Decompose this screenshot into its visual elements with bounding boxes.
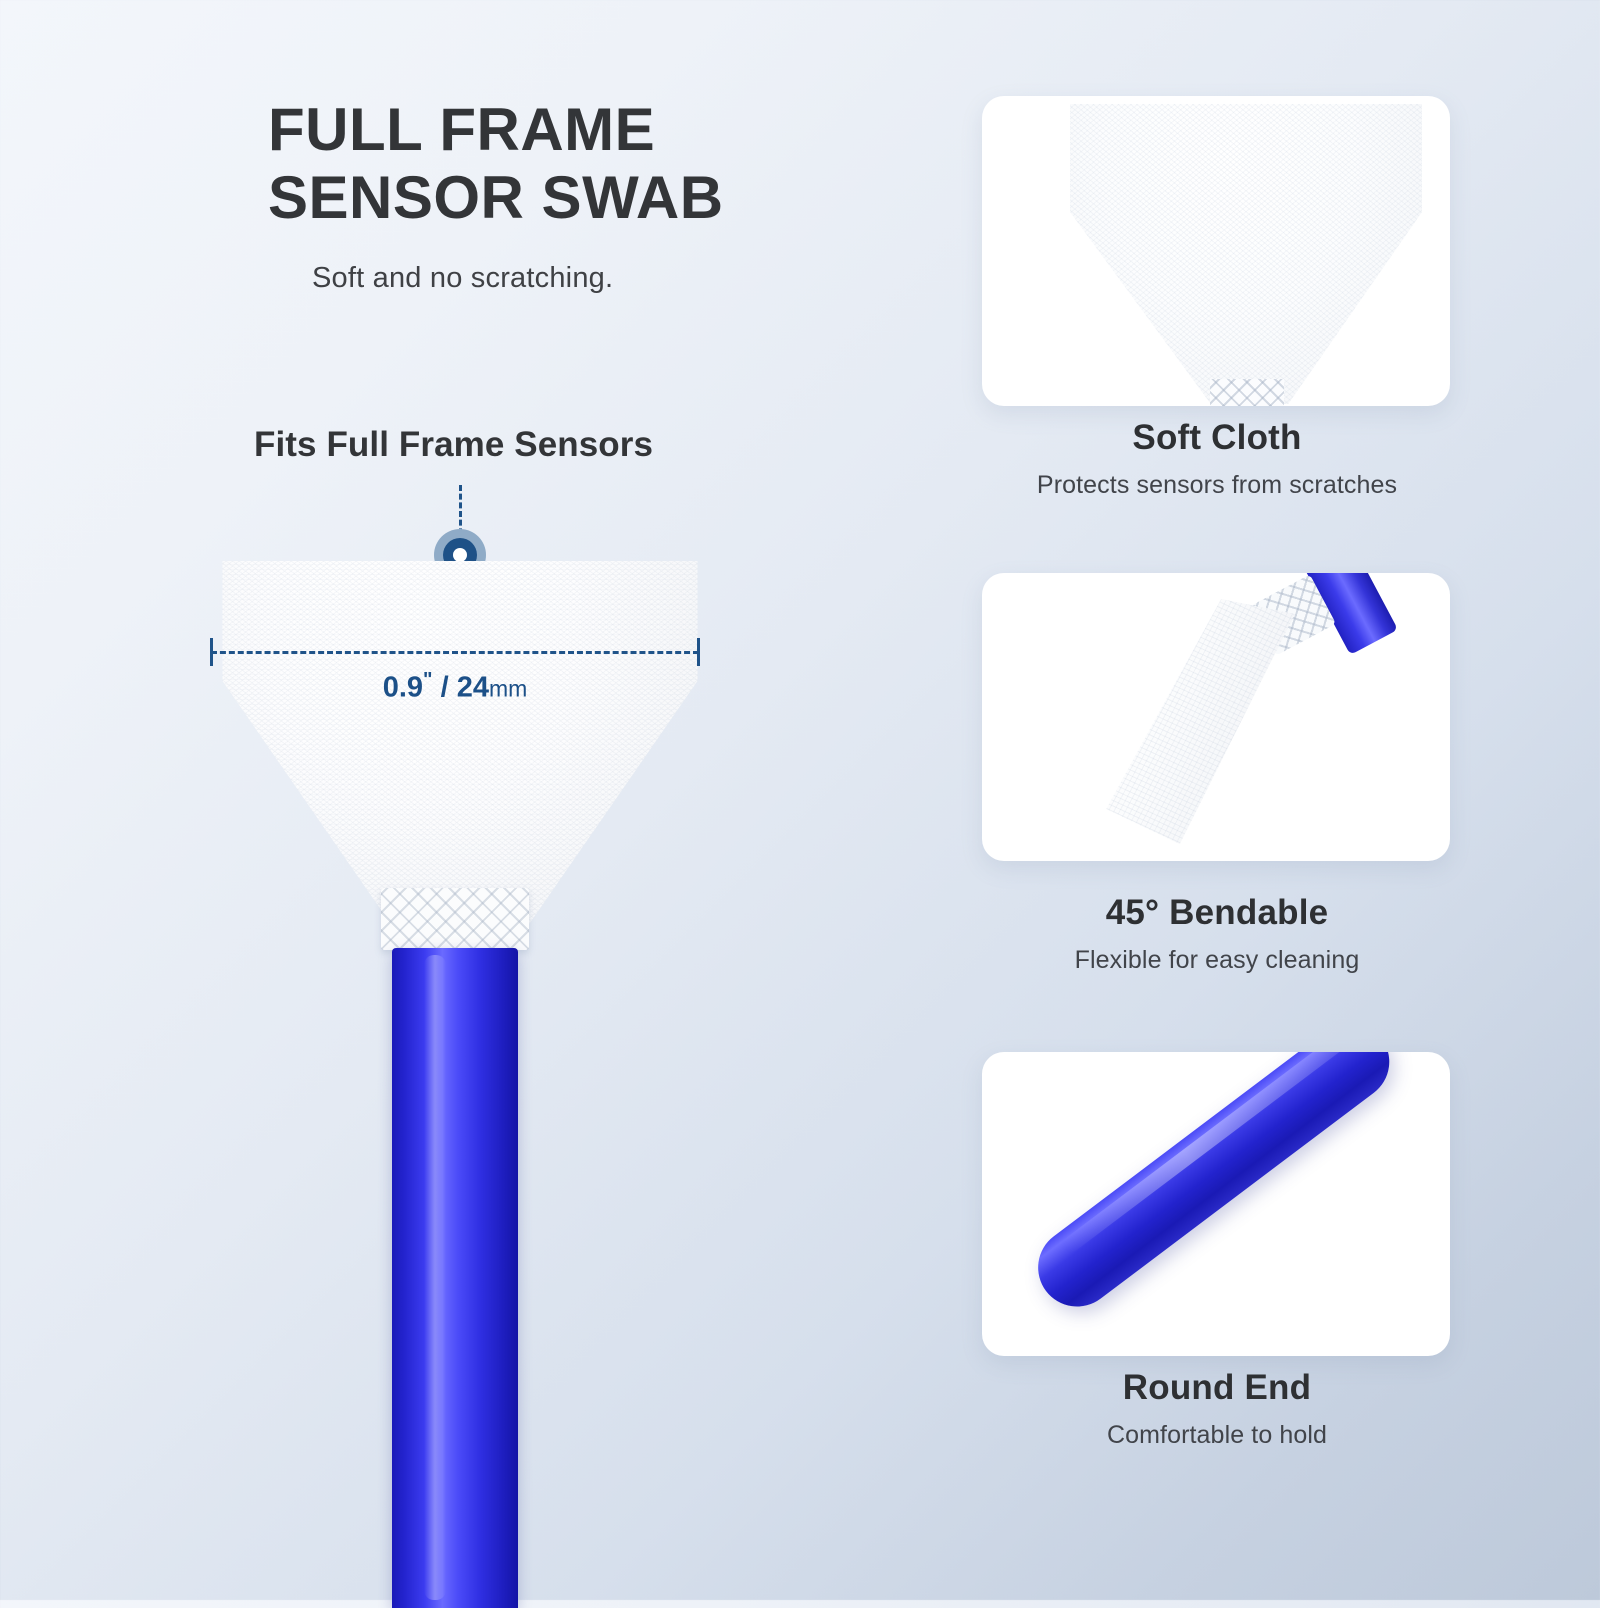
dimension-separator: / — [441, 672, 449, 704]
swab-blue-handle — [392, 948, 518, 1608]
dimension-line — [211, 651, 699, 654]
swab-head-texture — [210, 545, 710, 945]
feature-caption-soft-cloth: Soft Cloth Protects sensors from scratch… — [982, 418, 1452, 500]
feature-subtitle-soft-cloth: Protects sensors from scratches — [982, 471, 1452, 500]
feature-subtitle-bendable: Flexible for easy cleaning — [982, 946, 1452, 975]
feature-cards-column: Soft Cloth Protects sensors from scratch… — [982, 0, 1452, 1600]
swab-product-illustration — [0, 0, 940, 1600]
bendable-cloth-texture — [1074, 599, 1304, 849]
feature-caption-bendable: 45° Bendable Flexible for easy cleaning — [982, 893, 1452, 975]
dimension-inches: 0.9 — [383, 672, 423, 704]
soft-cloth-texture — [1070, 104, 1422, 404]
swab-handle-highlight — [424, 955, 446, 1600]
bendable-swab-image — [982, 573, 1450, 861]
left-pane: FULL FRAME SENSOR SWAB Soft and no scrat… — [0, 0, 940, 1600]
round-end-rod — [1023, 1052, 1405, 1322]
feature-card-round-end[interactable] — [982, 1052, 1450, 1356]
swab-mesh-collar — [381, 888, 529, 950]
feature-title-bendable: 45° Bendable — [982, 893, 1452, 933]
soft-cloth-mesh-collar — [1210, 379, 1284, 406]
feature-subtitle-round-end: Comfortable to hold — [982, 1421, 1452, 1450]
feature-caption-round-end: Round End Comfortable to hold — [982, 1368, 1452, 1450]
feature-title-round-end: Round End — [982, 1368, 1452, 1408]
round-end-image — [982, 1052, 1450, 1356]
dimension-label: 0.9" / 24mm — [210, 669, 700, 705]
dimension-millimeters: 24 — [457, 672, 489, 704]
dimension-mm-unit: mm — [489, 676, 527, 702]
dimension-inch-symbol: " — [423, 669, 432, 691]
feature-title-soft-cloth: Soft Cloth — [982, 418, 1452, 458]
feature-card-soft-cloth[interactable] — [982, 96, 1450, 406]
feature-card-bendable[interactable] — [982, 573, 1450, 861]
